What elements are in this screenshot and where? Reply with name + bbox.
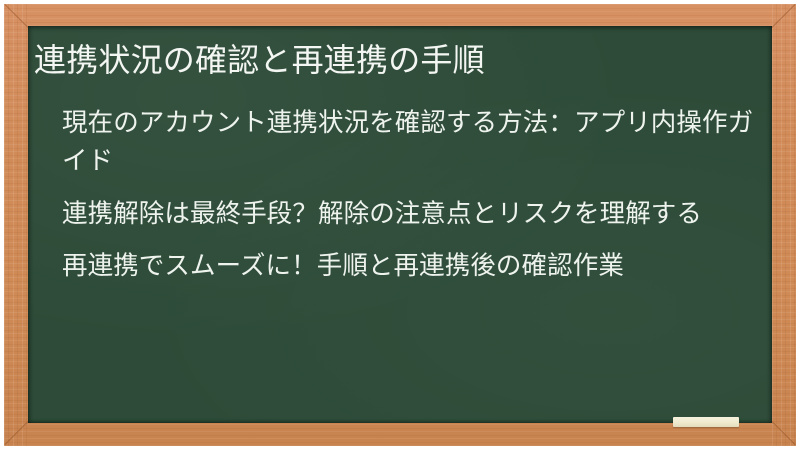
board-title: 連携状況の確認と再連携の手順: [34, 40, 766, 80]
frame-grain-left: [4, 4, 28, 446]
chalkboard-surface: 連携状況の確認と再連携の手順 現在のアカウント連携状況を確認する方法：アプリ内操…: [28, 26, 772, 423]
list-item: 再連携でスムーズに！手順と再連携後の確認作業: [62, 247, 762, 285]
chalkboard-slide: 連携状況の確認と再連携の手順 現在のアカウント連携状況を確認する方法：アプリ内操…: [0, 0, 800, 450]
board-topic-list: 現在のアカウント連携状況を確認する方法：アプリ内操作ガイド 連携解除は最終手段？…: [62, 104, 762, 299]
chalk-stick-icon: [673, 417, 739, 427]
list-item: 現在のアカウント連携状況を確認する方法：アプリ内操作ガイド: [62, 104, 762, 181]
list-item: 連携解除は最終手段？解除の注意点とリスクを理解する: [62, 195, 762, 233]
frame-grain-right: [772, 4, 796, 446]
